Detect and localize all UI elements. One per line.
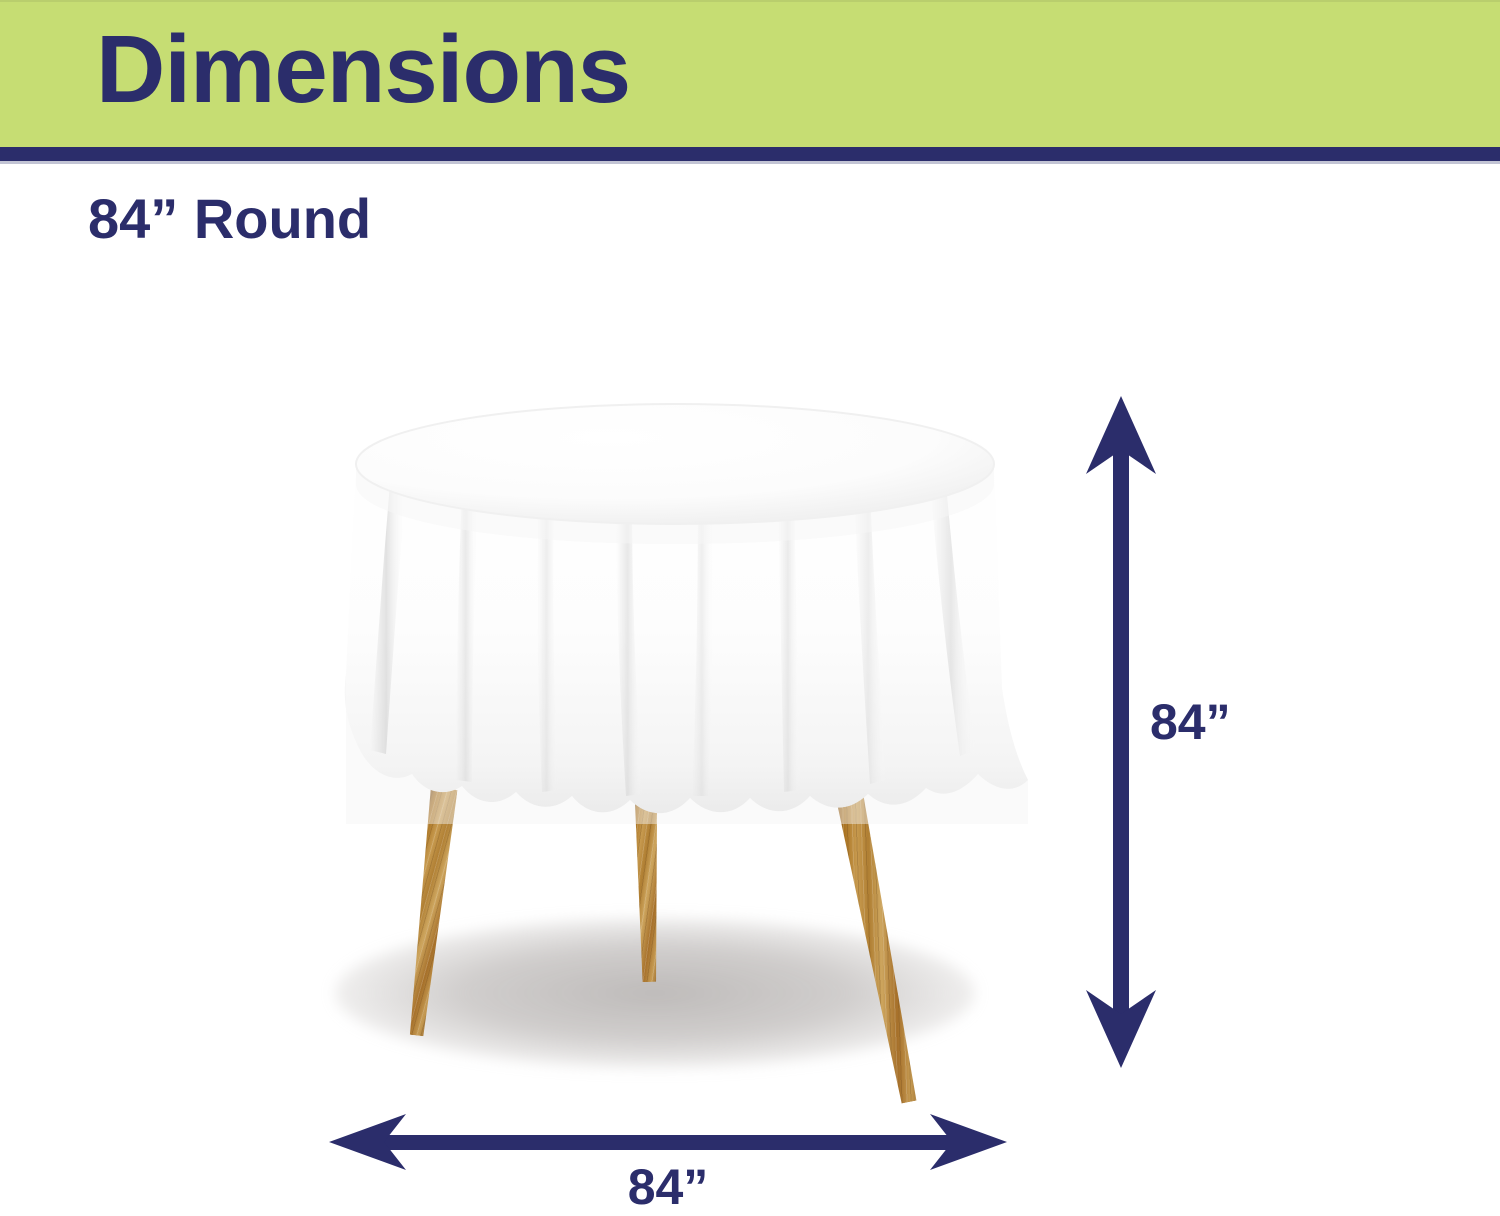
round-tablecloth [286, 388, 1064, 824]
width-dimension-label: 84” [0, 1158, 1336, 1216]
height-dimension-label: 84” [1150, 693, 1231, 751]
product-size-subtitle: 84” Round [88, 186, 371, 251]
page-title: Dimensions [96, 16, 630, 124]
header-divider-shadow [0, 161, 1500, 164]
tablecloth-drape-shape [286, 388, 1064, 824]
product-illustration [280, 380, 1070, 1080]
header-banner: Dimensions [0, 0, 1500, 149]
header-divider-rule [0, 147, 1500, 161]
